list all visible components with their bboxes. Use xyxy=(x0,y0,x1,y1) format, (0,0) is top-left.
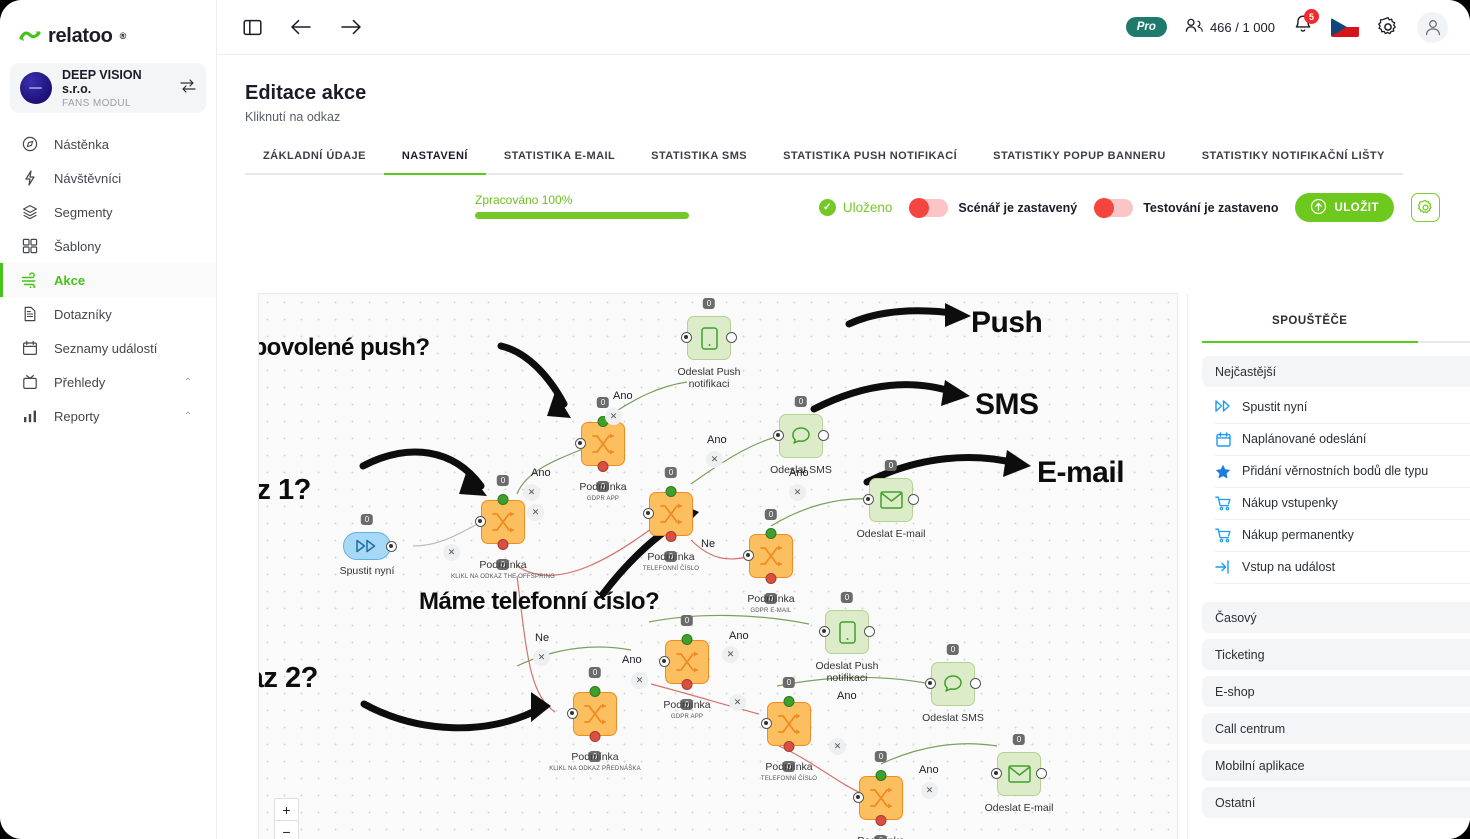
page-subtitle: Kliknutí na odkaz xyxy=(217,105,1470,124)
notifications-bell[interactable]: 5 xyxy=(1293,14,1313,40)
sidebar: relatoo ® DEEP VISION s.r.o. FANS MODUL … xyxy=(0,0,217,839)
progress-label: Zpracováno 100% xyxy=(475,193,689,207)
node-true-dot[interactable] xyxy=(784,696,795,707)
node-true-dot[interactable] xyxy=(682,634,693,645)
trigger-item-pridani-vernostnich-bodu[interactable]: Přidání věrnostních bodů dle typu xyxy=(1215,456,1470,488)
annotation-ma-povolene-push: Má povolené push? xyxy=(258,334,430,362)
chevron-up-icon[interactable]: ⌃ xyxy=(184,377,192,388)
node-false-dot[interactable] xyxy=(766,573,777,584)
trigger-list: Spustit nyní Naplánované odeslání Přidán… xyxy=(1215,392,1470,584)
flow-node-condition[interactable]: 0 0 Podmínka TELEFONNÍ ČÍSLO xyxy=(649,492,693,536)
group-label: E-shop xyxy=(1215,685,1255,699)
zoom-in-button[interactable]: + xyxy=(275,799,298,821)
forward-arrow-icon[interactable] xyxy=(340,18,362,36)
scenario-toggle[interactable] xyxy=(909,199,948,217)
members-counter: 466 / 1 000 xyxy=(1185,18,1275,36)
testing-toggle[interactable] xyxy=(1094,199,1133,217)
trigger-item-label: Přidání věrnostních bodů dle typu xyxy=(1242,464,1428,479)
group-label: Časový xyxy=(1215,611,1257,625)
sidebar-item-nastenka[interactable]: Nástěnka xyxy=(0,127,216,161)
node-body[interactable] xyxy=(869,478,913,522)
node-label: Podmínka xyxy=(663,699,710,711)
flow-node-condition[interactable]: 0 0 Podmínka KLIKL NA ODKAZ PŘEDNÁŠKA xyxy=(573,692,617,736)
node-count-badge: 0 xyxy=(681,615,693,626)
saved-label: Uloženo xyxy=(843,200,893,215)
node-input-port[interactable] xyxy=(761,718,772,729)
flow-node-email[interactable]: 0 Odeslat E-mail xyxy=(869,478,913,522)
trigger-item-label: Naplánované odeslání xyxy=(1242,432,1366,447)
sidebar-item-seznamy-udalosti[interactable]: Seznamy událostí xyxy=(0,331,216,365)
trigger-item-label: Vstup na událost xyxy=(1242,560,1335,575)
flow-canvas[interactable]: Má povolené push? Push Klikl na odkaz 1?… xyxy=(258,293,1178,839)
trigger-item-naplanovane-odeslani[interactable]: Naplánované odeslání xyxy=(1215,424,1470,456)
node-label: Podmínka xyxy=(571,751,618,763)
group-label: Nejčastější xyxy=(1215,365,1276,379)
node-sublabel: GDPR APP xyxy=(587,496,619,502)
flow-node-condition[interactable]: 0 0 Podmínka KLIKL NA ODKAZ THE OFFSPRIN… xyxy=(481,500,525,544)
node-output-port[interactable] xyxy=(726,332,737,343)
login-icon xyxy=(1215,560,1231,574)
node-label: Podmínka xyxy=(747,593,794,605)
sidebar-item-label: Reporty xyxy=(54,409,100,424)
flow-node-condition[interactable]: 0 0 Podmínka GDPR E-MAIL xyxy=(749,534,793,578)
node-body[interactable] xyxy=(649,492,693,536)
sidebar-item-label: Nástěnka xyxy=(54,137,109,152)
top-bar: Pro 466 / 1 000 5 xyxy=(217,0,1470,55)
calendar-icon xyxy=(1215,432,1231,447)
node-output-port[interactable] xyxy=(864,626,875,637)
group-label: Ticketing xyxy=(1215,648,1265,662)
flow-node-sms[interactable]: 0 Odeslat SMS xyxy=(779,414,823,458)
sidebar-item-label: Návštěvníci xyxy=(54,171,121,186)
node-sublabel: KLIKL NA ODKAZ PŘEDNÁŠKA xyxy=(549,766,641,772)
compass-icon xyxy=(21,136,38,153)
node-false-dot[interactable] xyxy=(876,815,887,826)
flow-node-condition[interactable]: 0 0 Podmínka TELEFONNÍ ČÍSLO xyxy=(767,702,811,746)
tv-icon xyxy=(21,374,38,391)
sidebar-item-akce[interactable]: Akce xyxy=(0,263,216,297)
tab-zakladni-udaje[interactable]: ZÁKLADNÍ ÚDAJE xyxy=(245,150,384,175)
chevron-up-icon[interactable]: ⌃ xyxy=(184,411,192,422)
edge-delete-icon[interactable]: ✕ xyxy=(443,544,460,561)
node-count-badge: 0 xyxy=(497,475,509,486)
node-body[interactable] xyxy=(343,532,391,560)
save-button-label: ULOŽIT xyxy=(1334,202,1379,214)
node-label: Podmínka xyxy=(765,761,812,773)
canvas-settings-button[interactable] xyxy=(1411,193,1440,222)
node-count-badge: 0 xyxy=(597,397,609,408)
org-module: FANS MODUL xyxy=(62,98,170,109)
sidebar-item-label: Seznamy událostí xyxy=(54,341,157,356)
trigger-item-label: Nákup permanentky xyxy=(1242,528,1354,543)
action-bar: Zpracováno 100% ✓ Uloženo Scénář je zast… xyxy=(217,193,1470,235)
edge-label-ne: Ne xyxy=(535,632,549,644)
group-eshop[interactable]: E-shop ⌃ xyxy=(1202,676,1470,707)
node-count-badge: 0 xyxy=(665,467,677,478)
node-input-port[interactable] xyxy=(991,768,1002,779)
sidebar-item-label: Akce xyxy=(54,273,85,288)
saved-status: ✓ Uloženo xyxy=(819,199,893,216)
node-input-port[interactable] xyxy=(743,550,754,561)
relatoo-logo-icon xyxy=(19,28,41,44)
node-input-port[interactable] xyxy=(819,626,830,637)
node-label: Odeslat E-mail xyxy=(985,802,1054,814)
wind-icon xyxy=(21,272,38,289)
sidebar-item-sablony[interactable]: Šablony xyxy=(0,229,216,263)
sidebar-item-segmenty[interactable]: Segmenty xyxy=(0,195,216,229)
canvas-zoom-controls[interactable]: + − xyxy=(274,798,299,839)
node-output-port[interactable] xyxy=(1036,768,1047,779)
node-count-badge: 0 xyxy=(947,644,959,655)
node-count-badge: 0 xyxy=(795,396,807,407)
group-casovy[interactable]: Časový ⌃ xyxy=(1202,602,1470,633)
trigger-item-nakup-vstupenky[interactable]: Nákup vstupenky xyxy=(1215,488,1470,520)
trigger-item-nakup-permanentky[interactable]: Nákup permanentky xyxy=(1215,520,1470,552)
node-body[interactable] xyxy=(481,500,525,544)
group-call-centrum[interactable]: Call centrum ⌃ xyxy=(1202,713,1470,744)
edge-label-ano: Ano xyxy=(613,390,633,402)
org-name: DEEP VISION s.r.o. xyxy=(62,68,170,96)
sidebar-item-label: Přehledy xyxy=(54,375,105,390)
sidebar-item-label: Šablony xyxy=(54,239,101,254)
zoom-out-button[interactable]: − xyxy=(275,821,298,839)
node-label: Podmínka xyxy=(579,481,626,493)
edge-label-ano: Ano xyxy=(707,434,727,446)
node-body[interactable] xyxy=(687,316,731,360)
trigger-item-label: Nákup vstupenky xyxy=(1242,496,1338,511)
group-label: Ostatní xyxy=(1215,796,1255,810)
group-ticketing[interactable]: Ticketing ⌃ xyxy=(1202,639,1470,670)
node-body[interactable] xyxy=(931,662,975,706)
app-root: relatoo ® DEEP VISION s.r.o. FANS MODUL … xyxy=(0,0,1470,839)
notifications-badge: 5 xyxy=(1304,9,1319,24)
bars-icon xyxy=(21,408,38,425)
node-label: Odeslat Push notifikaci xyxy=(663,366,755,390)
node-sublabel: GDPR APP xyxy=(671,714,703,720)
edge-label-ano: Ano xyxy=(919,764,939,776)
cart-icon xyxy=(1215,528,1231,543)
grid-icon xyxy=(21,238,38,255)
sidebar-item-label: Dotazníky xyxy=(54,307,112,322)
node-label: Podmínka xyxy=(647,551,694,563)
edge-delete-icon[interactable]: ✕ xyxy=(631,672,648,689)
trigger-item-vstup-na-udalost[interactable]: Vstup na událost xyxy=(1215,552,1470,584)
node-input-port[interactable] xyxy=(475,516,486,527)
group-label: Mobilní aplikace xyxy=(1215,759,1305,773)
edge-label-ne: Ne xyxy=(701,538,715,550)
account-avatar[interactable] xyxy=(1417,12,1448,43)
node-count-badge: 0 xyxy=(703,298,715,309)
node-label: Odeslat E-mail xyxy=(857,528,926,540)
node-label: Spustit nyní xyxy=(340,565,395,577)
logo-registered: ® xyxy=(120,31,127,41)
flow-node-condition[interactable]: 0 0 Podmínka GDPR APP xyxy=(581,422,625,466)
panel-toggle-icon[interactable] xyxy=(243,18,262,37)
tab-statistika-email[interactable]: STATISTIKA E-MAIL xyxy=(486,150,633,175)
node-false-dot[interactable] xyxy=(666,531,677,542)
node-input-port[interactable] xyxy=(575,438,586,449)
document-icon xyxy=(21,306,38,323)
node-label: Odeslat SMS xyxy=(922,712,984,724)
page-title: Editace akce xyxy=(217,55,1470,105)
members-count-text: 466 / 1 000 xyxy=(1210,20,1275,35)
group-label: Call centrum xyxy=(1215,722,1285,736)
save-button[interactable]: ULOŽIT xyxy=(1295,193,1394,222)
sidebar-item-label: Segmenty xyxy=(54,205,113,220)
annotation-email: E-mail xyxy=(1037,456,1124,490)
node-count-badge: 0 xyxy=(589,667,601,678)
fast-forward-icon xyxy=(1215,400,1231,412)
node-count-badge: 0 xyxy=(875,751,887,762)
page-tabs: ZÁKLADNÍ ÚDAJE NASTAVENÍ STATISTIKA E-MA… xyxy=(245,150,1470,175)
node-sublabel: TELEFONNÍ ČÍSLO xyxy=(761,776,817,782)
settings-gear-icon[interactable] xyxy=(1377,16,1399,38)
edge-label-ano: Ano xyxy=(531,467,551,479)
flow-node-trigger[interactable]: 0 Spustit nyní xyxy=(343,532,391,560)
right-panel: SPOUŠTĚČE AKCE Nejčastější ⌄ Spustit nyn… xyxy=(1187,293,1470,839)
annotation-klikl-na-odkaz-2: Klikl na odkaz 2? xyxy=(258,662,318,695)
node-output-port[interactable] xyxy=(818,430,829,441)
bolt-icon xyxy=(21,170,38,187)
node-body[interactable] xyxy=(779,414,823,458)
node-sublabel: TELEFONNÍ ČÍSLO xyxy=(643,566,699,572)
node-label: Podmínka xyxy=(479,559,526,571)
node-input-port[interactable] xyxy=(773,430,784,441)
testing-toggle-group: Testování je zastaveno xyxy=(1094,199,1278,217)
node-output-port[interactable] xyxy=(908,494,919,505)
node-label: Podmínka xyxy=(857,835,904,839)
node-output-port[interactable] xyxy=(970,678,981,689)
flow-node-sms[interactable]: 0 Odeslat SMS xyxy=(931,662,975,706)
trigger-item-spustit-nyni[interactable]: Spustit nyní xyxy=(1215,392,1470,424)
flow-node-push[interactable]: 0 Odeslat Push notifikaci xyxy=(687,316,731,360)
edge-delete-icon[interactable]: ✕ xyxy=(523,484,540,501)
node-true-dot[interactable] xyxy=(666,486,677,497)
flow-node-condition[interactable]: 0 0 Podmínka GDPR APP xyxy=(665,640,709,684)
node-label: Odeslat Push notifikaci xyxy=(801,660,893,684)
node-count-badge: 0 xyxy=(361,514,373,525)
right-panel-tabs: SPOUŠTĚČE AKCE xyxy=(1188,293,1470,343)
sidebar-nav: Nástěnka Návštěvníci Segmenty xyxy=(0,127,216,433)
page-content: Editace akce Kliknutí na odkaz ZÁKLADNÍ … xyxy=(217,55,1470,839)
node-body[interactable] xyxy=(767,702,811,746)
edge-label-ano: Ano xyxy=(837,690,857,702)
node-true-dot[interactable] xyxy=(498,494,509,505)
node-input-port[interactable] xyxy=(853,792,864,803)
node-false-dot[interactable] xyxy=(498,539,509,550)
app-logo[interactable]: relatoo ® xyxy=(0,0,216,54)
node-count-badge: 0 xyxy=(783,677,795,688)
node-input-port[interactable] xyxy=(659,656,670,667)
node-true-dot[interactable] xyxy=(766,528,777,539)
progress-indicator: Zpracováno 100% xyxy=(475,193,689,219)
node-input-port[interactable] xyxy=(925,678,936,689)
edge-delete-icon[interactable]: ✕ xyxy=(527,504,544,521)
node-count-badge: 0 xyxy=(841,592,853,603)
tab-statistiky-popup[interactable]: STATISTIKY POPUP BANNERU xyxy=(975,150,1184,175)
annotation-mame-telefonni-cislo: Máme telefonní číslo? xyxy=(419,588,659,616)
layers-icon xyxy=(21,204,38,221)
group-nejcastejsi[interactable]: Nejčastější ⌄ xyxy=(1202,356,1470,387)
node-input-port[interactable] xyxy=(643,508,654,519)
sidebar-item-prehledy[interactable]: Přehledy ⌃ xyxy=(0,365,216,399)
sidebar-item-reporty[interactable]: Reporty ⌃ xyxy=(0,399,216,433)
tab-statistiky-listy[interactable]: STATISTIKY NOTIFIKAČNÍ LIŠTY xyxy=(1184,150,1403,175)
node-sublabel: KLIKL NA ODKAZ THE OFFSPRING xyxy=(451,574,555,580)
node-false-dot[interactable] xyxy=(682,679,693,690)
sidebar-item-dotazniky[interactable]: Dotazníky xyxy=(0,297,216,331)
flow-node-email[interactable]: 0 Odeslat E-mail xyxy=(997,752,1041,796)
node-body[interactable] xyxy=(997,752,1041,796)
annotation-push: Push xyxy=(971,306,1042,340)
tab-statistika-push[interactable]: STATISTIKA PUSH NOTIFIKACÍ xyxy=(765,150,975,175)
edge-delete-icon[interactable]: ✕ xyxy=(829,738,846,755)
node-true-dot[interactable] xyxy=(876,770,887,781)
swap-icon[interactable] xyxy=(180,79,196,97)
node-sublabel: GDPR E-MAIL xyxy=(750,608,791,614)
sidebar-item-navstevnici[interactable]: Návštěvníci xyxy=(0,161,216,195)
progress-track xyxy=(475,212,689,219)
tab-nastaveni[interactable]: NASTAVENÍ xyxy=(384,150,486,175)
node-body[interactable] xyxy=(581,422,625,466)
scenario-toggle-group: Scénář je zastavený xyxy=(909,199,1077,217)
star-icon xyxy=(1215,464,1231,479)
node-body[interactable] xyxy=(665,640,709,684)
logo-text: relatoo xyxy=(48,25,113,48)
flow-node-condition[interactable]: 0 0 Podmínka GDPR E-MAIL xyxy=(859,776,903,820)
annotation-klikl-na-odkaz-1: Klikl na odkaz 1? xyxy=(258,474,311,507)
flow-node-push[interactable]: 0 Odeslat Push notifikaci xyxy=(825,610,869,654)
edge-delete-icon[interactable]: ✕ xyxy=(722,646,739,663)
back-arrow-icon[interactable] xyxy=(290,18,312,36)
node-count-badge: 0 xyxy=(885,460,897,471)
edge-delete-icon[interactable]: ✕ xyxy=(921,782,938,799)
testing-toggle-label: Testování je zastaveno xyxy=(1143,201,1278,215)
node-input-port[interactable] xyxy=(863,494,874,505)
edge-delete-icon[interactable]: ✕ xyxy=(729,694,746,711)
tab-akce[interactable]: AKCE xyxy=(1418,293,1470,343)
cz-flag-icon[interactable] xyxy=(1331,18,1359,37)
tab-statistika-sms[interactable]: STATISTIKA SMS xyxy=(633,150,765,175)
org-switcher[interactable]: DEEP VISION s.r.o. FANS MODUL xyxy=(10,63,206,113)
annotation-sms: SMS xyxy=(975,388,1039,422)
users-icon xyxy=(1185,18,1204,36)
trigger-item-label: Spustit nyní xyxy=(1242,400,1307,415)
edge-delete-icon[interactable]: ✕ xyxy=(789,484,806,501)
progress-fill xyxy=(475,212,689,219)
edge-delete-icon[interactable]: ✕ xyxy=(706,451,723,468)
cart-icon xyxy=(1215,496,1231,511)
node-body[interactable] xyxy=(749,534,793,578)
calendar-icon xyxy=(21,340,38,357)
cloud-upload-icon xyxy=(1310,199,1327,217)
node-input-port[interactable] xyxy=(681,332,692,343)
node-body[interactable] xyxy=(573,692,617,736)
edge-label-ano: Ano xyxy=(622,654,642,666)
edge-delete-icon[interactable]: ✕ xyxy=(605,408,622,425)
node-output-port[interactable] xyxy=(386,541,397,552)
node-false-dot[interactable] xyxy=(784,741,795,752)
node-false-dot[interactable] xyxy=(590,731,601,742)
node-count-badge: 0 xyxy=(1013,734,1025,745)
scenario-toggle-label: Scénář je zastavený xyxy=(958,201,1077,215)
node-body[interactable] xyxy=(859,776,903,820)
tab-spoustece[interactable]: SPOUŠTĚČE xyxy=(1202,293,1418,343)
group-mobilni-aplikace[interactable]: Mobilní aplikace ⌃ xyxy=(1202,750,1470,781)
node-count-badge: 0 xyxy=(765,509,777,520)
pro-badge: Pro xyxy=(1126,17,1167,37)
node-true-dot[interactable] xyxy=(590,686,601,697)
node-false-dot[interactable] xyxy=(598,461,609,472)
node-body[interactable] xyxy=(825,610,869,654)
edge-label-ano: Ano xyxy=(789,467,809,479)
edge-label-ano: Ano xyxy=(729,630,749,642)
group-ostatni[interactable]: Ostatní ⌃ xyxy=(1202,787,1470,818)
edge-delete-icon[interactable]: ✕ xyxy=(533,649,550,666)
check-circle-icon: ✓ xyxy=(819,199,836,216)
org-avatar xyxy=(20,72,52,104)
node-input-port[interactable] xyxy=(567,708,578,719)
